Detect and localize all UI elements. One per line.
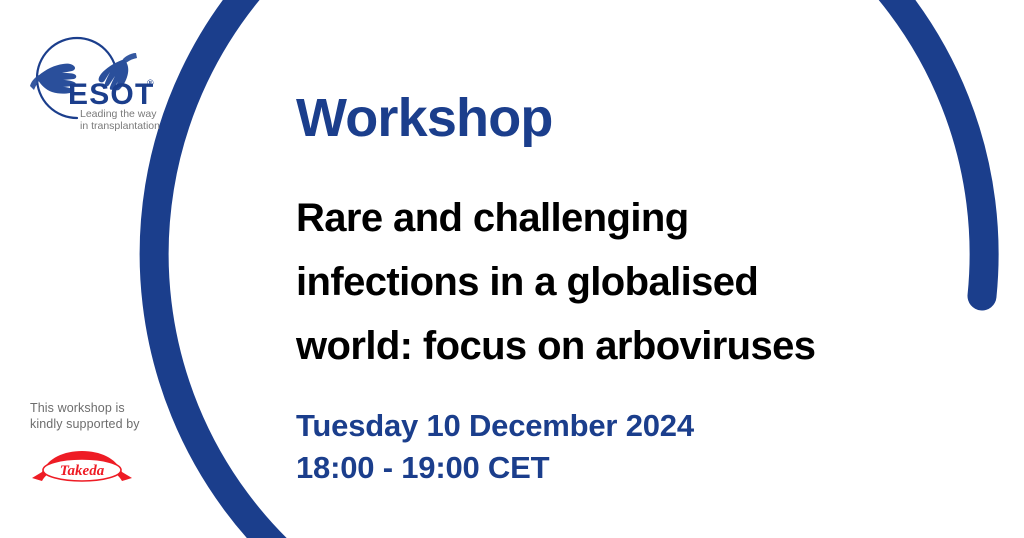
event-datetime: Tuesday 10 December 2024 18:00 - 19:00 C… <box>296 405 694 489</box>
esot-wordmark: ESOT <box>68 78 154 111</box>
takeda-wordmark: Takeda <box>60 463 105 479</box>
page-title: Rare and challenging infections in a glo… <box>296 186 946 378</box>
event-date: Tuesday 10 December 2024 <box>296 405 694 447</box>
esot-tagline-line1: Leading the way <box>80 108 157 120</box>
event-time: 18:00 - 19:00 CET <box>296 447 694 489</box>
promo-banner: ESOT ® Leading the way in transplantatio… <box>0 0 1024 538</box>
esot-tagline-line2: in transplantation <box>80 120 160 132</box>
sponsor-intro: This workshop is kindly supported by <box>30 400 180 432</box>
headline-line-1: Rare and challenging <box>296 186 946 250</box>
kicker-label: Workshop <box>296 89 553 147</box>
headline-line-2: infections in a globalised <box>296 250 946 314</box>
content-column: Workshop Rare and challenging infections… <box>296 0 956 538</box>
sponsor-intro-line1: This workshop is <box>30 400 180 416</box>
sponsor-block: This workshop is kindly supported by Tak… <box>30 400 180 491</box>
takeda-logo: Takeda <box>30 448 134 486</box>
esot-registered-mark: ® <box>147 78 154 88</box>
headline-line-3: world: focus on arboviruses <box>296 314 946 378</box>
esot-logo: ESOT ® Leading the way in transplantatio… <box>22 22 182 132</box>
sponsor-intro-line2: kindly supported by <box>30 416 180 432</box>
